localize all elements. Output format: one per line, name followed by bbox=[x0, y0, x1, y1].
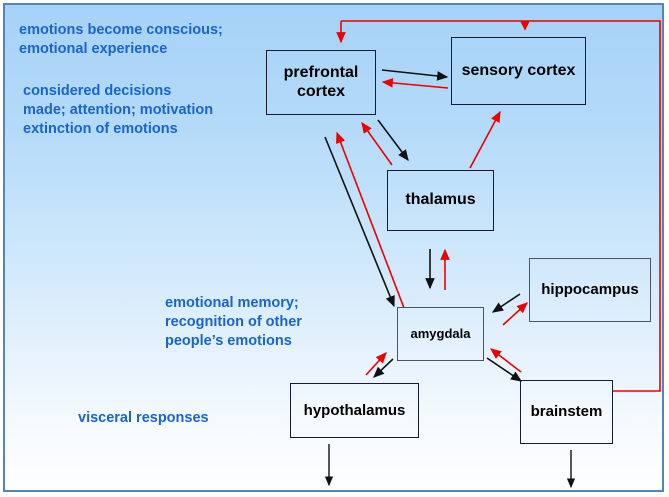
node-hippocampus[interactable]: hippocampus bbox=[529, 258, 651, 322]
node-hypothalamus[interactable]: hypothalamus bbox=[290, 383, 419, 438]
node-hypothalamus-label: hypothalamus bbox=[304, 402, 406, 419]
node-prefrontal-cortex-line2: cortex bbox=[284, 83, 359, 101]
node-amygdala[interactable]: amygdala bbox=[397, 307, 484, 361]
node-hippocampus-label: hippocampus bbox=[541, 281, 639, 298]
node-thalamus[interactable]: thalamus bbox=[387, 170, 494, 231]
note-emotional-memory: emotional memory; recognition of other p… bbox=[165, 294, 302, 351]
diagram-root: emotions become conscious; emotional exp… bbox=[0, 0, 669, 497]
node-prefrontal-cortex[interactable]: prefrontal cortex bbox=[266, 50, 376, 115]
node-brainstem[interactable]: brainstem bbox=[520, 380, 613, 444]
note-visceral-responses: visceral responses bbox=[78, 409, 209, 428]
note-considered-decisions: considered decisions made; attention; mo… bbox=[23, 82, 213, 139]
node-sensory-cortex[interactable]: sensory cortex bbox=[451, 37, 586, 105]
node-thalamus-label: thalamus bbox=[405, 191, 475, 209]
node-brainstem-label: brainstem bbox=[531, 403, 603, 420]
node-prefrontal-cortex-line1: prefrontal bbox=[284, 64, 359, 82]
node-sensory-cortex-label: sensory cortex bbox=[462, 62, 576, 80]
note-emotions-conscious: emotions become conscious; emotional exp… bbox=[19, 21, 223, 59]
node-amygdala-label: amygdala bbox=[411, 327, 471, 342]
